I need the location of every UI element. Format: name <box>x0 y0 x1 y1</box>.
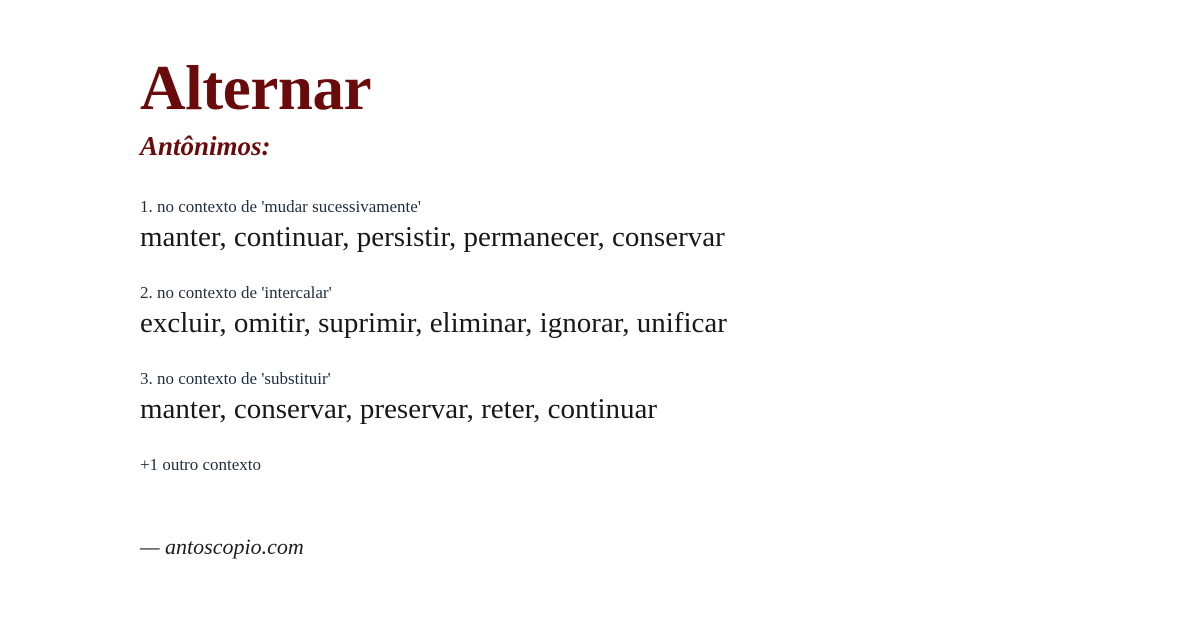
page-title: Alternar <box>140 57 371 120</box>
sense-context-2: 2. no contexto de 'intercalar' <box>140 282 1150 303</box>
antonyms-card: Alternar Antônimos: 1. no contexto de 'm… <box>0 0 1200 628</box>
sense-entry-2: 2. no contexto de 'intercalar' excluir, … <box>140 282 1150 343</box>
sense-antonyms-1: manter, continuar, persistir, permanecer… <box>140 219 1150 257</box>
sense-entry-1: 1. no contexto de 'mudar sucessivamente'… <box>140 196 1150 257</box>
source-attribution: — antoscopio.com <box>140 534 304 560</box>
sense-entry-3: 3. no contexto de 'substituir' manter, c… <box>140 368 1150 429</box>
relation-type-label: Antônimos: <box>140 133 271 160</box>
more-contexts-note: +1 outro contexto <box>140 454 1150 475</box>
sense-antonyms-2: excluir, omitir, suprimir, eliminar, ign… <box>140 305 1150 343</box>
sense-context-3: 3. no contexto de 'substituir' <box>140 368 1150 389</box>
sense-context-1: 1. no contexto de 'mudar sucessivamente' <box>140 196 1150 217</box>
sense-antonyms-3: manter, conservar, preservar, reter, con… <box>140 391 1150 429</box>
sense-list: 1. no contexto de 'mudar sucessivamente'… <box>140 196 1150 475</box>
